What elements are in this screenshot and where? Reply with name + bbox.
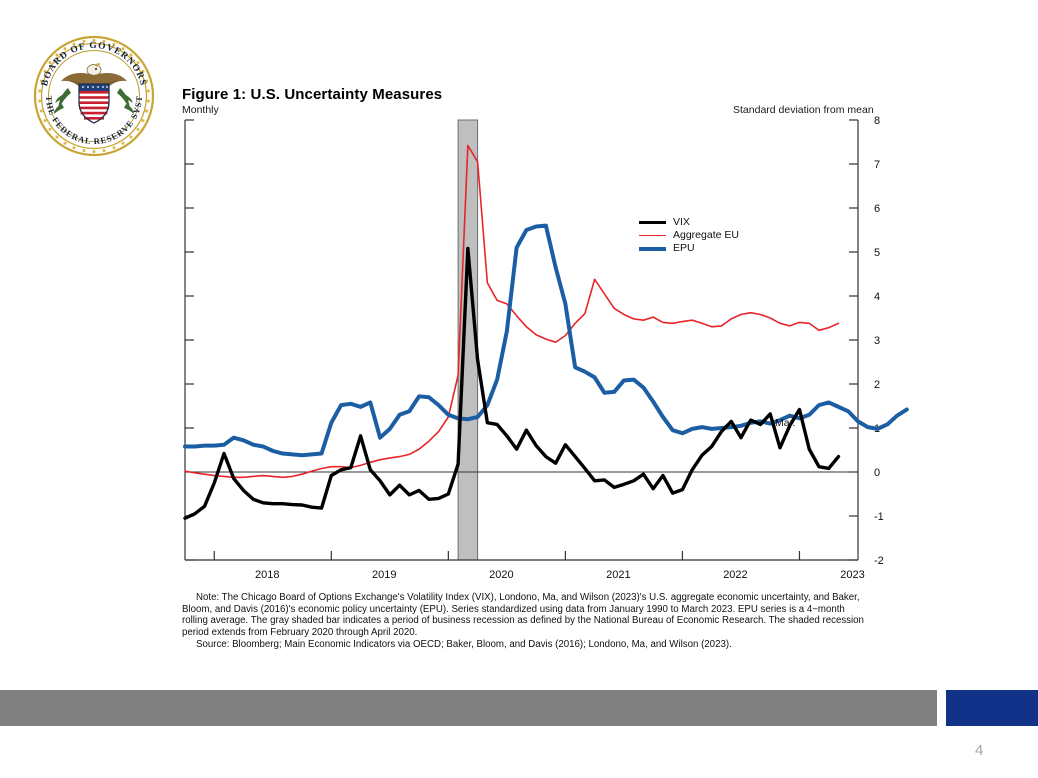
footnote-source: Source: Bloomberg; Main Economic Indicat…	[182, 639, 872, 651]
legend-swatch-aggregate-eu-icon	[639, 235, 666, 236]
page-number: 4	[975, 742, 983, 759]
x-axis-tick-label: 2023	[840, 569, 864, 581]
bottom-bar-blue	[946, 690, 1038, 726]
legend-label-aggregate-eu: Aggregate EU	[673, 229, 739, 242]
bottom-bar-gray	[0, 690, 937, 726]
y-axis-tick-label: 8	[874, 115, 880, 127]
legend-item-vix: VIX	[639, 216, 739, 229]
endpoint-annotation-mar: Mar.	[775, 417, 795, 429]
legend-item-epu: EPU	[639, 242, 739, 255]
legend-label-vix: VIX	[673, 216, 690, 229]
chart-legend: VIX Aggregate EU EPU	[639, 216, 739, 255]
y-axis-tick-label: 7	[874, 159, 880, 171]
x-axis-tick-label: 2020	[489, 569, 513, 581]
y-axis-tick-label: -1	[874, 511, 884, 523]
legend-item-aggregate-eu: Aggregate EU	[639, 229, 739, 242]
x-axis-tick-label: 2021	[606, 569, 630, 581]
x-axis-tick-label: 2018	[255, 569, 279, 581]
uncertainty-line-chart: -2-1012345678201820192020202120222023	[0, 0, 1038, 680]
legend-swatch-epu-icon	[639, 247, 666, 251]
x-axis-tick-label: 2022	[723, 569, 747, 581]
y-axis-tick-label: 2	[874, 379, 880, 391]
y-axis-tick-label: 6	[874, 203, 880, 215]
footnote-block: Note: The Chicago Board of Options Excha…	[182, 592, 872, 651]
y-axis-tick-label: 5	[874, 247, 880, 259]
y-axis-tick-label: 4	[874, 291, 880, 303]
series-line-epu	[185, 226, 907, 456]
y-axis-tick-label: -2	[874, 555, 884, 567]
legend-swatch-vix-icon	[639, 221, 666, 224]
footnote-note: Note: The Chicago Board of Options Excha…	[182, 592, 872, 638]
legend-label-epu: EPU	[673, 242, 695, 255]
y-axis-tick-label: 0	[874, 467, 880, 479]
x-axis-tick-label: 2019	[372, 569, 396, 581]
y-axis-tick-label: 3	[874, 335, 880, 347]
figure-container: Figure 1: U.S. Uncertainty Measures Mont…	[0, 0, 1038, 680]
